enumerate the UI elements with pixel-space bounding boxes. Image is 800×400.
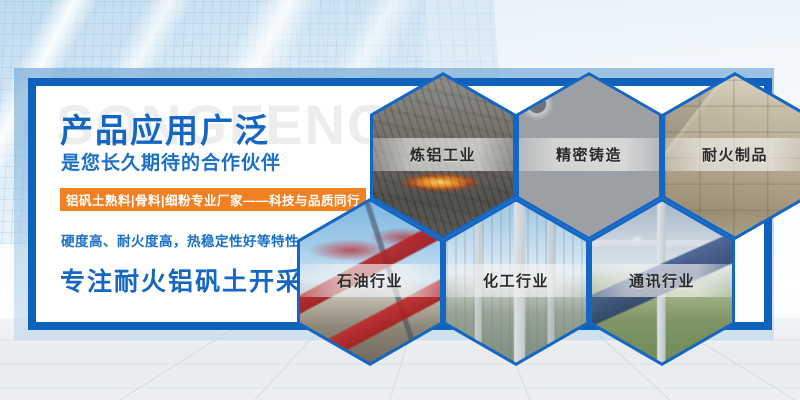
hex-label-text: 通讯行业: [629, 270, 695, 291]
orange-strip-label: 铝矾土熟料|骨料|细粉专业厂家——科技与品质同行: [66, 190, 360, 209]
hex-label-band: 炼铝工业: [373, 138, 513, 171]
page-title: 产品应用广泛: [60, 104, 270, 152]
hex-label-band: 化工行业: [446, 264, 586, 297]
hex-label-band: 耐火制品: [665, 138, 800, 171]
hex-label-text: 炼铝工业: [410, 144, 476, 165]
hex-label-band: 石油行业: [300, 264, 440, 297]
subtitle: 是您长久期待的合作伙伴: [61, 148, 281, 175]
promotional-banner: SONGFENG 产品应用广泛 是您长久期待的合作伙伴 铝矾土熟料|骨料|细粉专…: [0, 0, 800, 400]
hex-label-band: 通讯行业: [592, 264, 732, 297]
orange-highlight-strip: 铝矾土熟料|骨料|细粉专业厂家——科技与品质同行: [60, 188, 366, 211]
hex-label-text: 耐火制品: [702, 144, 768, 165]
hex-label-band: 精密铸造: [519, 138, 659, 171]
hex-label-text: 石油行业: [337, 270, 403, 291]
hex-label-text: 精密铸造: [556, 144, 622, 165]
hex-label-text: 化工行业: [483, 270, 549, 291]
feature-description: 硬度高、耐火度高，热稳定性好等特性: [61, 230, 299, 250]
